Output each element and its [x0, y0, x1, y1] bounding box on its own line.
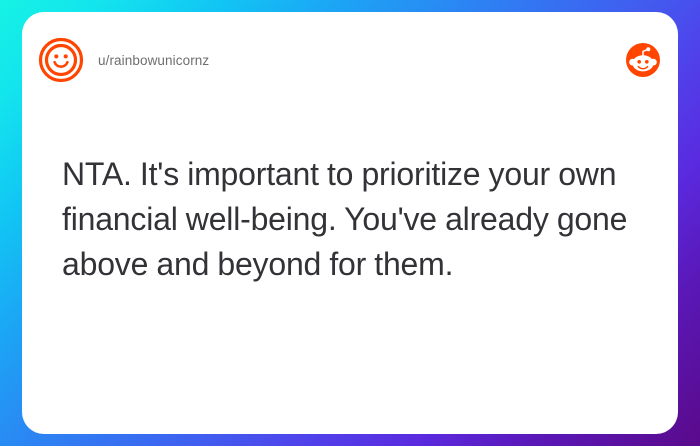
reddit-snoo-icon[interactable]: [626, 43, 660, 77]
reddit-comment-card: u/rainbowunicornz NTA. It': [22, 12, 678, 434]
smiley-face-icon[interactable]: [38, 37, 84, 83]
card-body: NTA. It's important to prioritize your o…: [62, 152, 642, 287]
post-text: NTA. It's important to prioritize your o…: [62, 152, 642, 287]
card-header: u/rainbowunicornz: [22, 12, 678, 108]
username-label: u/rainbowunicornz: [98, 53, 209, 68]
post-card-canvas: u/rainbowunicornz NTA. It': [0, 0, 700, 446]
